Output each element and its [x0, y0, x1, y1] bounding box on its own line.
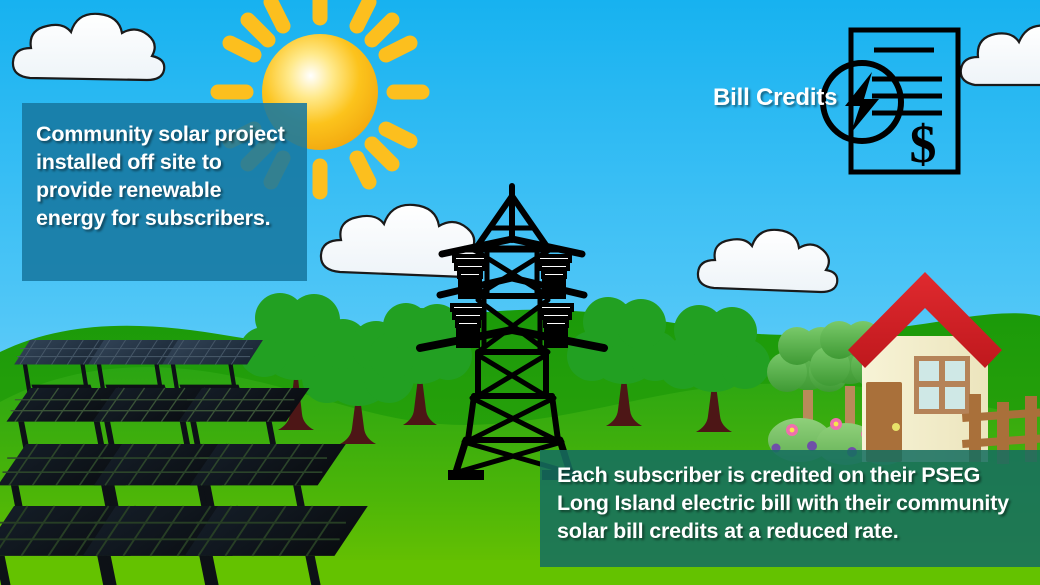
house-window: [914, 356, 970, 414]
bill-dollar-sign: $: [910, 114, 937, 174]
infographic-scene: $ Community solar project installed off …: [0, 0, 1040, 585]
bill-credits-label: Bill Credits: [713, 84, 837, 112]
caption-community-solar: Community solar project installed off si…: [22, 103, 307, 281]
caption-bill-credits-description: Each subscriber is credited on their PSE…: [540, 450, 1040, 567]
door-knob: [892, 423, 900, 431]
